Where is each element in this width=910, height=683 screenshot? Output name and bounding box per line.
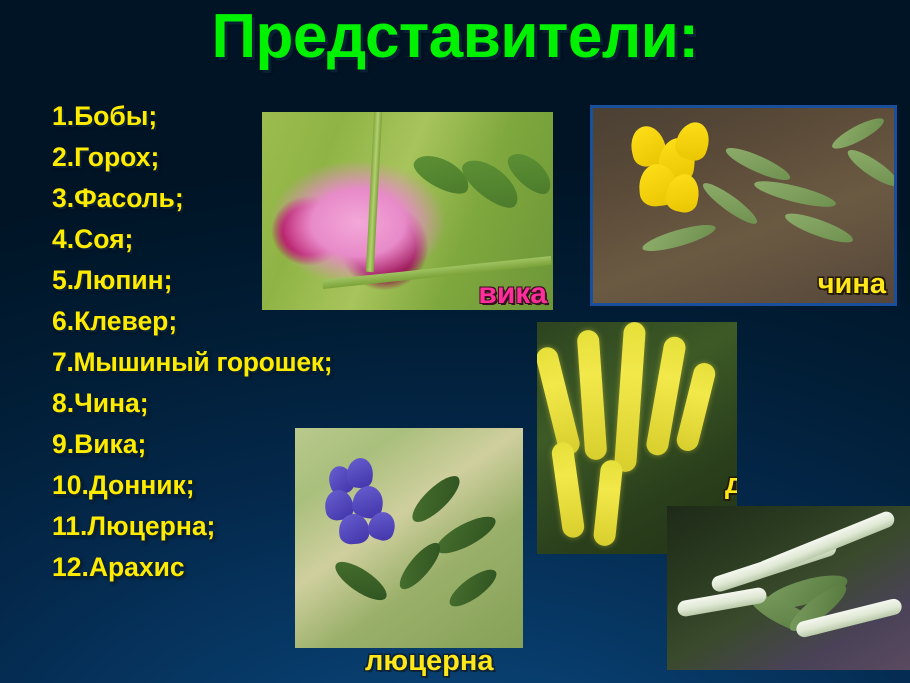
flower-spike [614, 322, 646, 473]
leaf-shape [444, 563, 501, 612]
photo-caption-vika: вика [478, 279, 547, 309]
photo-caption-lucerna: люцерна [365, 645, 494, 678]
photo-lucerna [295, 428, 523, 648]
photo-caption-china: чина [818, 270, 886, 299]
flower-spike [537, 345, 582, 457]
flower-shape [346, 457, 375, 490]
flower-spike [593, 459, 624, 547]
leaf-shape [699, 178, 761, 229]
leaf-shape [640, 220, 717, 256]
photo-vika: вика [262, 112, 553, 310]
leaf-shape [406, 470, 466, 529]
leaf-shape [394, 537, 447, 594]
list-item: 6.Клевер; [52, 308, 352, 335]
list-item: 8.Чина; [52, 390, 352, 417]
leaf-shape [330, 555, 392, 607]
flower-spike [550, 441, 585, 539]
leaf-shape [752, 176, 837, 212]
flower-spike [576, 329, 607, 460]
list-item: 7.Мышиный горошек; [52, 349, 352, 376]
page-title: Представители: [0, 4, 910, 71]
plant-stem [366, 112, 382, 272]
photo-white-clover [667, 506, 910, 670]
leaf-shape [723, 142, 793, 185]
leaf-shape [829, 113, 887, 153]
presentation-slide: Представители: 1.Бобы; 2.Горох; 3.Фасоль… [0, 0, 910, 683]
flower-spike [755, 509, 896, 579]
leaf-shape [844, 145, 897, 192]
photo-china: чина [590, 105, 897, 306]
leaf-shape [782, 208, 855, 248]
photo-caption-donnik: донник [725, 470, 737, 499]
leaf-shape [432, 510, 501, 560]
